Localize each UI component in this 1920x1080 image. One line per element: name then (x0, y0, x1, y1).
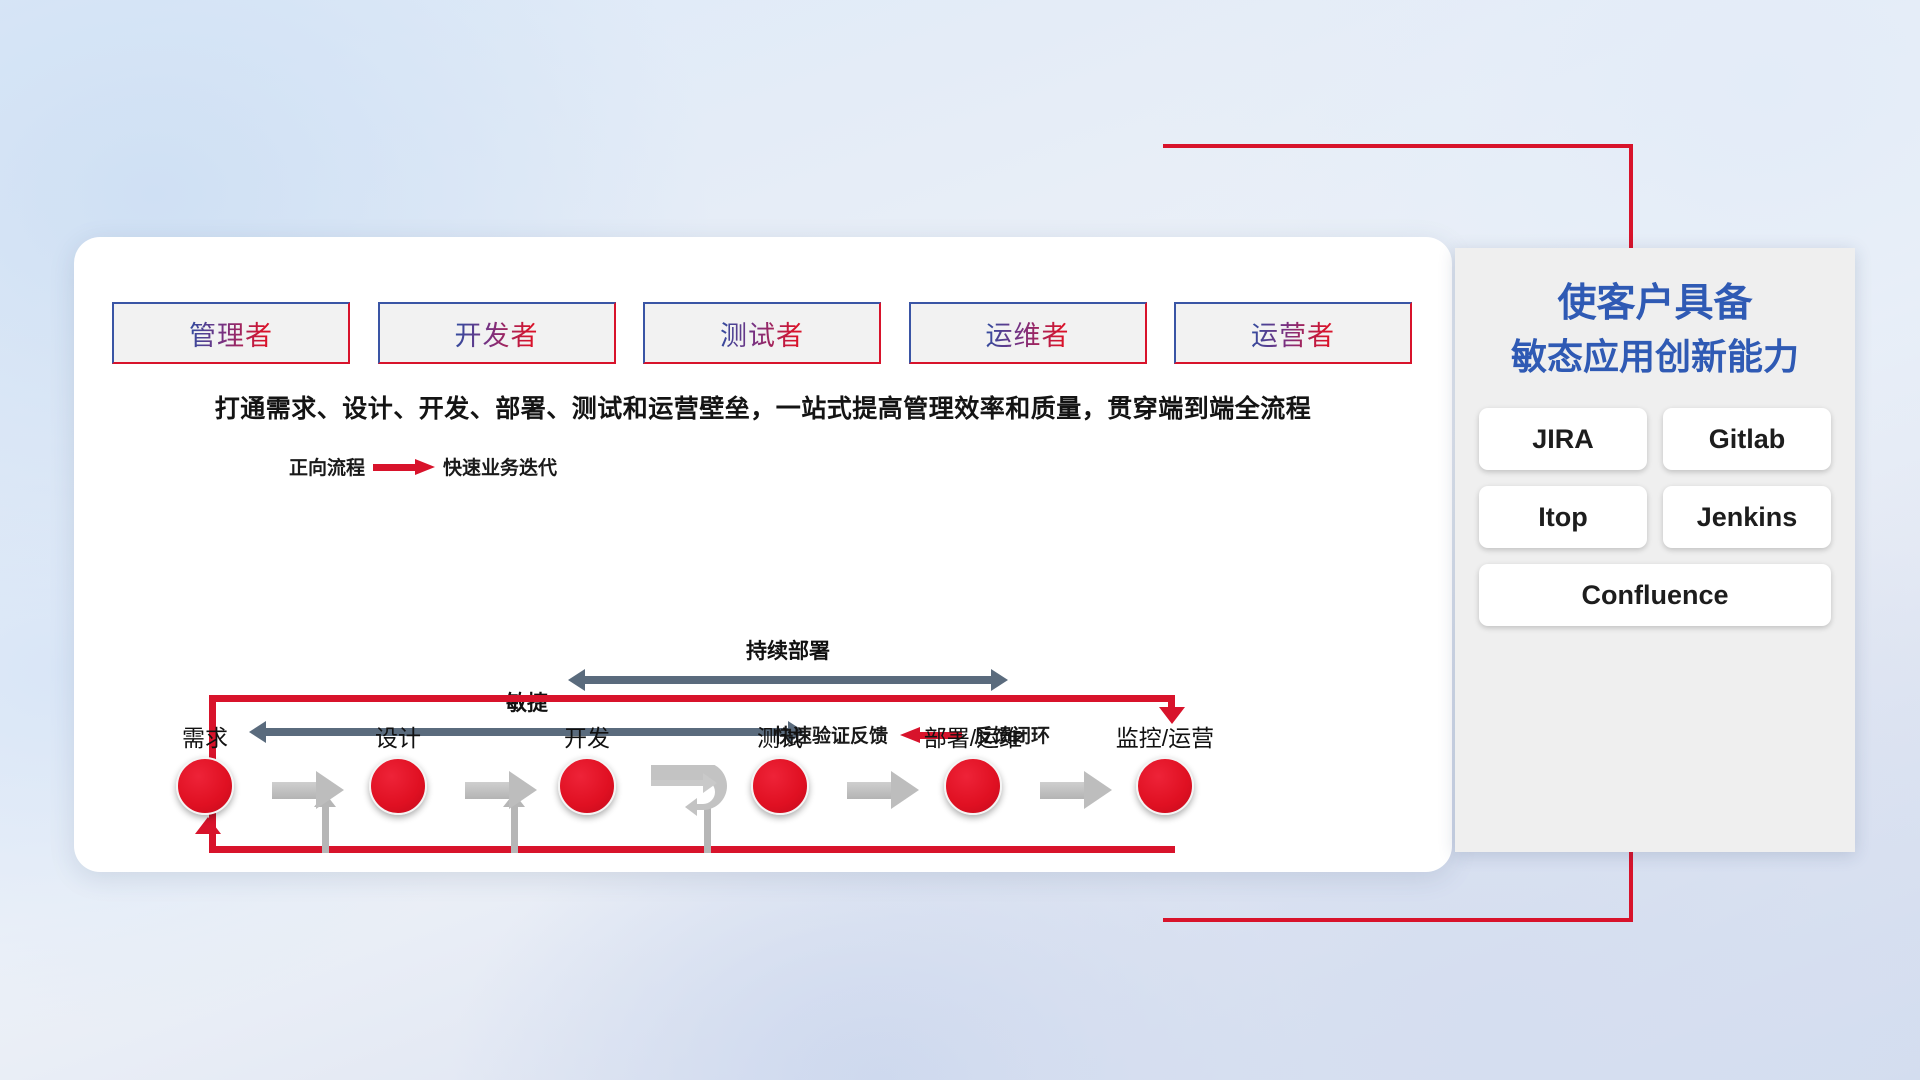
headline-text: 打通需求、设计、开发、部署、测试和运营壁垒，一站式提高管理效率和质量，贯穿端到端… (74, 389, 1452, 425)
slide-canvas: 使客户具备 敏态应用创新能力 JIRA Gitlab Itop Jenkins … (0, 0, 1920, 1080)
pipeline-stage-test[interactable]: 测试 (725, 719, 835, 815)
role-box-row: 管理者 开发者 测试者 运维者 运营者 (112, 302, 1412, 364)
role-box-manager[interactable]: 管理者 (112, 302, 350, 364)
devops-pipeline: 需求 设计 开发 测试 (150, 719, 1260, 829)
stage-dot-deploy-ops (944, 757, 1002, 815)
legend-forward-right-label: 快速业务迭代 (443, 453, 557, 480)
stage-dot-monitor-operations (1136, 757, 1194, 815)
loop-arrow-dev-test-icon (647, 765, 735, 817)
span-label-continuous-deployment: 持续部署 (568, 635, 1008, 665)
gray-arrow-2-icon (465, 771, 537, 809)
stage-label-design: 设计 (343, 719, 453, 753)
stage-dot-develop (558, 757, 616, 815)
sidebar-title-line1: 使客户具备 (1479, 276, 1831, 331)
sidebar-title-line2: 敏态应用创新能力 (1479, 331, 1831, 382)
role-label-ops: 运维者 (986, 314, 1070, 353)
sidebar-title: 使客户具备 敏态应用创新能力 (1479, 276, 1831, 382)
gray-arrow-4-icon (1040, 771, 1112, 809)
legend-forward-left-label: 正向流程 (289, 453, 365, 480)
arrow-right-red-icon (373, 459, 435, 475)
pipeline-stage-develop[interactable]: 开发 (532, 719, 642, 815)
stage-dot-design (369, 757, 427, 815)
stage-label-deploy-ops: 部署/运维 (918, 719, 1028, 753)
stage-label-test: 测试 (725, 719, 835, 753)
devops-main-card: 管理者 开发者 测试者 运维者 运营者 打通需求、设计、开发、部署、测试和运营壁… (74, 237, 1452, 872)
tool-tag-itop[interactable]: Itop (1479, 486, 1647, 548)
role-box-operations[interactable]: 运营者 (1174, 302, 1412, 364)
arrow-bar (582, 676, 994, 684)
capability-sidebar: 使客户具备 敏态应用创新能力 JIRA Gitlab Itop Jenkins … (1455, 248, 1855, 852)
arrow-head-right-icon (991, 669, 1008, 691)
tool-tag-grid: JIRA Gitlab Itop Jenkins Confluence (1479, 408, 1831, 626)
stage-label-requirement: 需求 (150, 719, 260, 753)
role-label-operations: 运营者 (1251, 314, 1335, 353)
gray-arrow-1-icon (272, 771, 344, 809)
stage-dot-test (751, 757, 809, 815)
tool-tag-confluence[interactable]: Confluence (1479, 564, 1831, 626)
tool-tag-gitlab[interactable]: Gitlab (1663, 408, 1831, 470)
role-label-manager: 管理者 (189, 314, 273, 353)
tool-tag-jenkins[interactable]: Jenkins (1663, 486, 1831, 548)
stage-dot-requirement (176, 757, 234, 815)
role-box-tester[interactable]: 测试者 (643, 302, 881, 364)
role-label-developer: 开发者 (455, 314, 539, 353)
stage-label-develop: 开发 (532, 719, 642, 753)
pipeline-stage-requirement[interactable]: 需求 (150, 719, 260, 815)
pipeline-stage-monitor-operations[interactable]: 监控/运营 (1110, 719, 1220, 815)
pipeline-stage-deploy-ops[interactable]: 部署/运维 (918, 719, 1028, 815)
tool-tag-jira[interactable]: JIRA (1479, 408, 1647, 470)
stage-label-monitor-operations: 监控/运营 (1110, 719, 1220, 753)
legend-forward-flow: 正向流程 快速业务迭代 (289, 453, 557, 480)
gray-arrow-3-icon (847, 771, 919, 809)
role-box-developer[interactable]: 开发者 (378, 302, 616, 364)
role-box-ops[interactable]: 运维者 (909, 302, 1147, 364)
role-label-tester: 测试者 (720, 314, 804, 353)
pipeline-stage-design[interactable]: 设计 (343, 719, 453, 815)
